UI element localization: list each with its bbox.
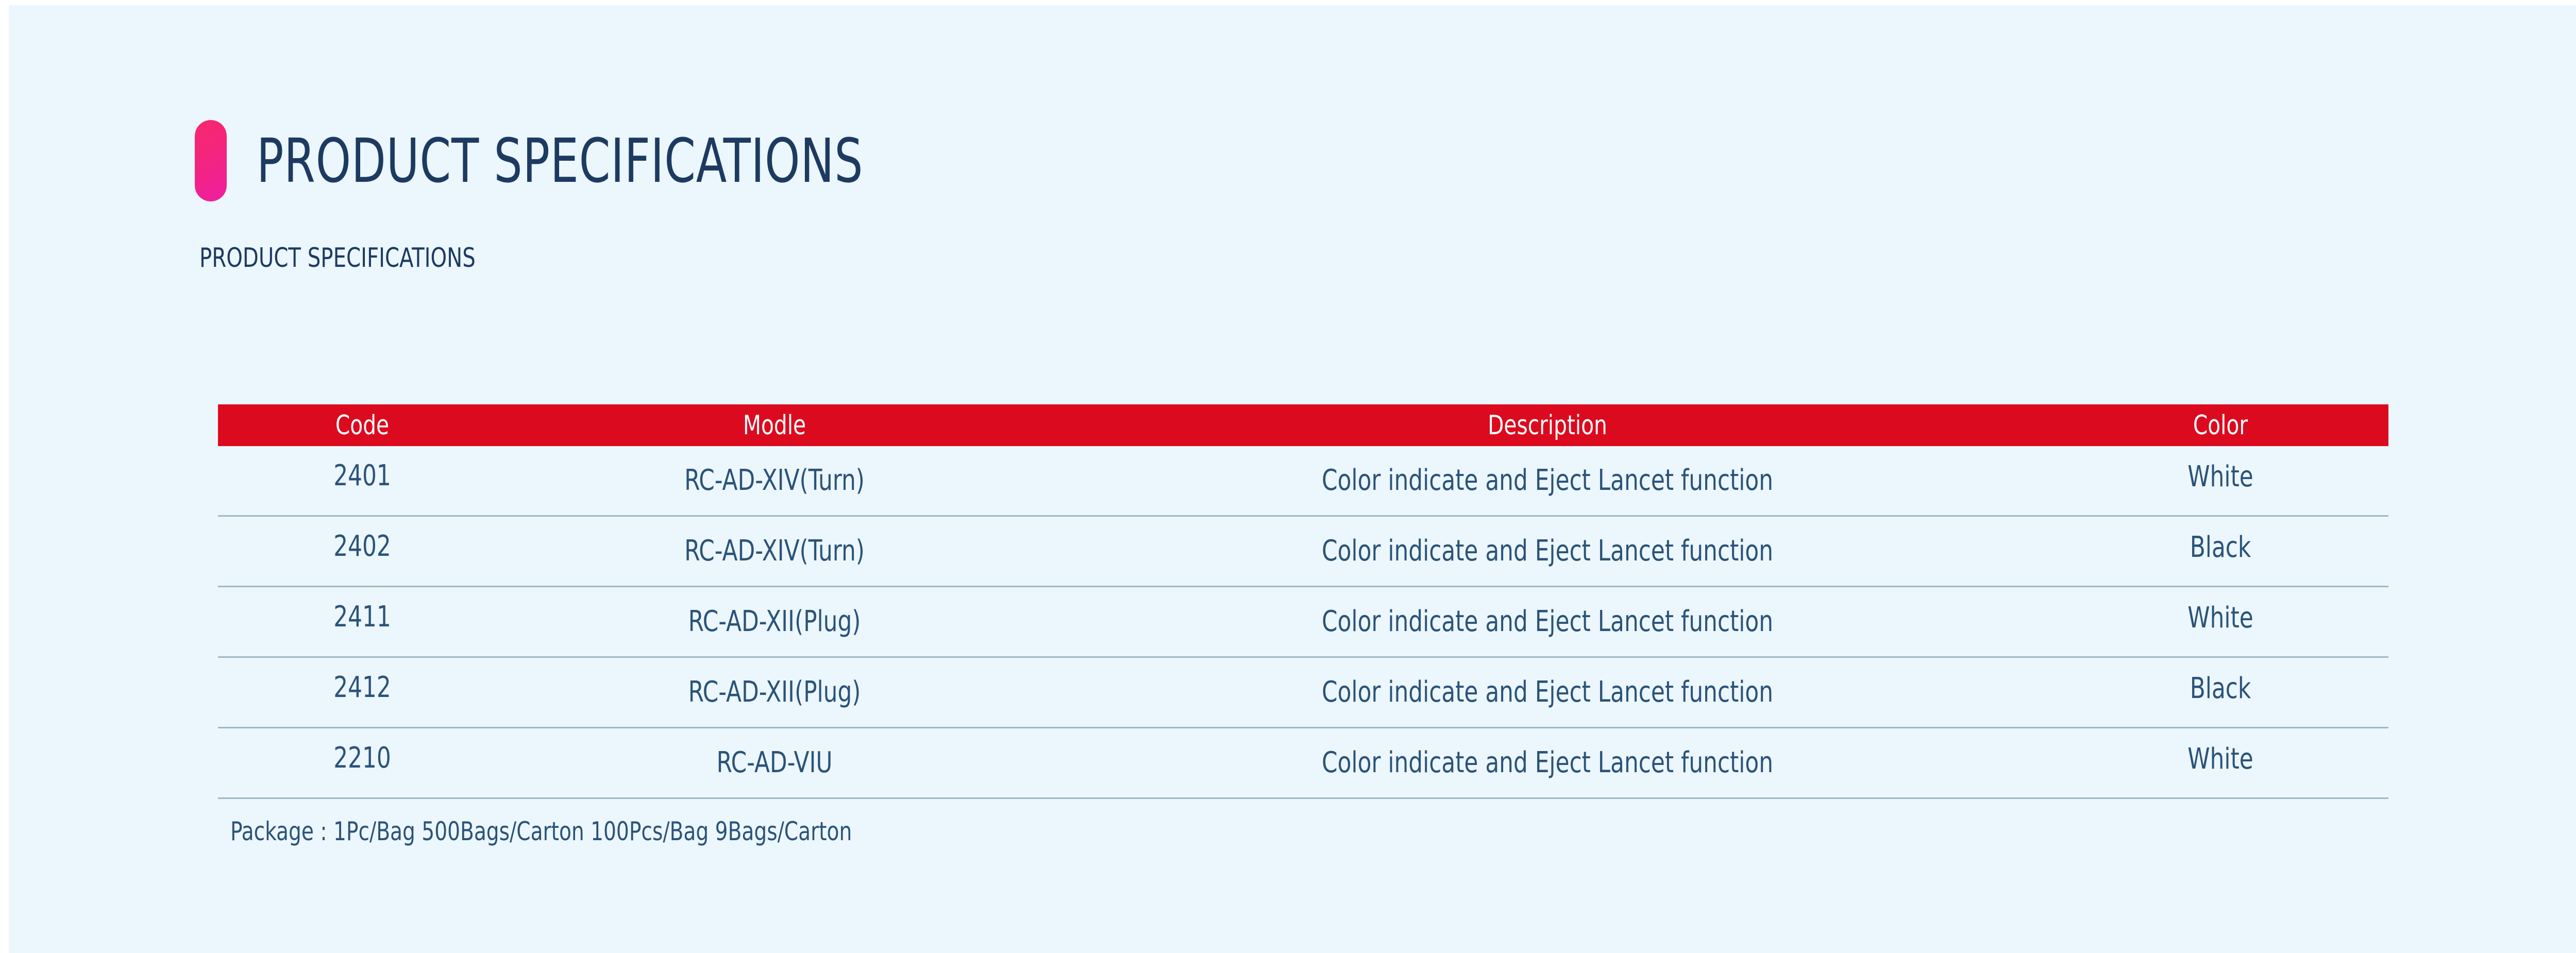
cell-color: Black [2074, 533, 2366, 562]
column-header-description: Description [1108, 412, 1986, 439]
cell-model: RC-AD-XII(Plug) [542, 678, 1008, 707]
column-header-color: Color [2074, 412, 2366, 439]
table-row: 2402 RC-AD-XIV(Turn) Color indicate and … [218, 517, 2388, 587]
page-subtitle: PRODUCT SPECIFICATIONS [199, 245, 476, 271]
cell-code: 2411 [237, 603, 487, 632]
cell-description: Color indicate and Eject Lancet function [1108, 466, 1986, 495]
cell-color: White [2074, 745, 2366, 774]
cell-color: White [2074, 604, 2366, 633]
column-header-model: Modle [542, 412, 1008, 439]
cell-description: Color indicate and Eject Lancet function [1108, 748, 1986, 777]
package-note-text: Package : 1Pc/Bag 500Bags/Carton 100Pcs/… [230, 819, 852, 844]
cell-code: 2402 [237, 532, 487, 561]
table-header-row: Code Modle Description Color [218, 404, 2388, 446]
cell-model: RC-AD-XIV(Turn) [542, 537, 1008, 566]
cell-description: Color indicate and Eject Lancet function [1108, 678, 1986, 707]
cell-code: 2412 [237, 673, 487, 702]
page-header: PRODUCT SPECIFICATIONS [195, 120, 997, 201]
page-canvas: PRODUCT SPECIFICATIONS PRODUCT SPECIFICA… [9, 5, 2576, 953]
table-row: 2401 RC-AD-XIV(Turn) Color indicate and … [218, 446, 2388, 517]
table-row: 2411 RC-AD-XII(Plug) Color indicate and … [218, 587, 2388, 658]
cell-model: RC-AD-XII(Plug) [542, 607, 1008, 636]
product-specifications-table: Code Modle Description Color 2401 RC-AD-… [218, 404, 2388, 844]
page-title: PRODUCT SPECIFICATIONS [257, 130, 863, 191]
table-row: 2210 RC-AD-VIU Color indicate and Eject … [218, 728, 2388, 799]
cell-code: 2210 [237, 744, 487, 773]
cell-code: 2401 [237, 462, 487, 490]
table-row: 2412 RC-AD-XII(Plug) Color indicate and … [218, 658, 2388, 728]
cell-description: Color indicate and Eject Lancet function [1108, 537, 1986, 566]
accent-pill-icon [195, 120, 227, 201]
cell-model: RC-AD-VIU [542, 748, 1008, 777]
cell-description: Color indicate and Eject Lancet function [1108, 607, 1986, 636]
cell-color: Black [2074, 674, 2366, 703]
column-header-code: Code [237, 412, 487, 439]
cell-model: RC-AD-XIV(Turn) [542, 466, 1008, 495]
cell-color: White [2074, 463, 2366, 491]
table-footer-package-note: Package : 1Pc/Bag 500Bags/Carton 100Pcs/… [218, 799, 2388, 844]
